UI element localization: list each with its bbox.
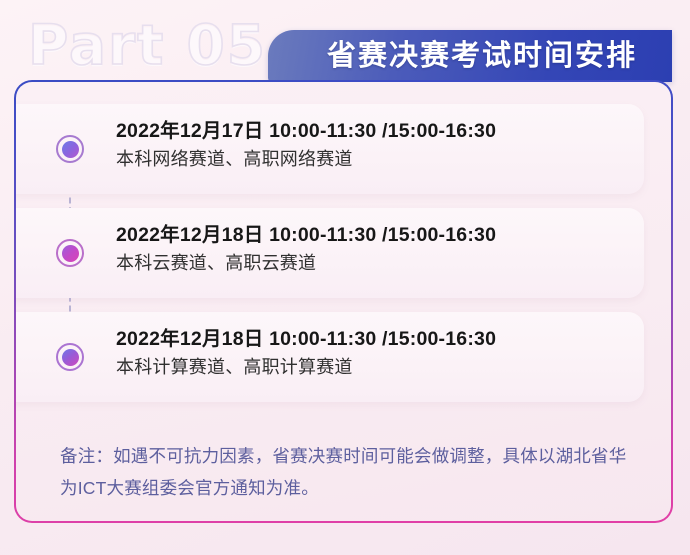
schedule-date: 2022年12月18日 10:00-11:30 /15:00-16:30	[116, 326, 655, 352]
list-item[interactable]: 2022年12月18日 10:00-11:30 /15:00-16:30 本科计…	[16, 312, 671, 402]
schedule-date: 2022年12月17日 10:00-11:30 /15:00-16:30	[116, 118, 655, 144]
schedule-card-text: 2022年12月17日 10:00-11:30 /15:00-16:30 本科网…	[116, 118, 655, 172]
schedule-tracks: 本科计算赛道、高职计算赛道	[116, 355, 655, 379]
schedule-date: 2022年12月18日 10:00-11:30 /15:00-16:30	[116, 222, 655, 248]
list-item[interactable]: 2022年12月17日 10:00-11:30 /15:00-16:30 本科网…	[16, 104, 671, 194]
schedule-tracks: 本科云赛道、高职云赛道	[116, 251, 655, 275]
schedule-card-text: 2022年12月18日 10:00-11:30 /15:00-16:30 本科计…	[116, 326, 655, 380]
list-item[interactable]: 2022年12月18日 10:00-11:30 /15:00-16:30 本科云…	[16, 208, 671, 298]
timeline-dot-magenta-icon	[56, 239, 84, 267]
content-panel-inner: 2022年12月17日 10:00-11:30 /15:00-16:30 本科网…	[16, 82, 671, 521]
schedule-card-text: 2022年12月18日 10:00-11:30 /15:00-16:30 本科云…	[116, 222, 655, 276]
section-banner: 省赛决赛考试时间安排	[268, 30, 672, 82]
content-panel: 2022年12月17日 10:00-11:30 /15:00-16:30 本科网…	[14, 80, 673, 523]
section-banner-title: 省赛决赛考试时间安排	[303, 42, 637, 71]
footnote-text: 备注：如遇不可抗力因素，省赛决赛时间可能会做调整，具体以湖北省华为ICT大赛组委…	[60, 440, 637, 505]
schedule-tracks: 本科网络赛道、高职网络赛道	[116, 147, 655, 171]
part-number-watermark: Part 05	[28, 18, 267, 73]
timeline-dot-violet-icon	[56, 343, 84, 371]
schedule-list: 2022年12月17日 10:00-11:30 /15:00-16:30 本科网…	[16, 104, 671, 416]
timeline-dot-blue-icon	[56, 135, 84, 163]
poster-root: Part 05 省赛决赛考试时间安排 2022年12月17日 10:00-11:…	[0, 0, 690, 555]
